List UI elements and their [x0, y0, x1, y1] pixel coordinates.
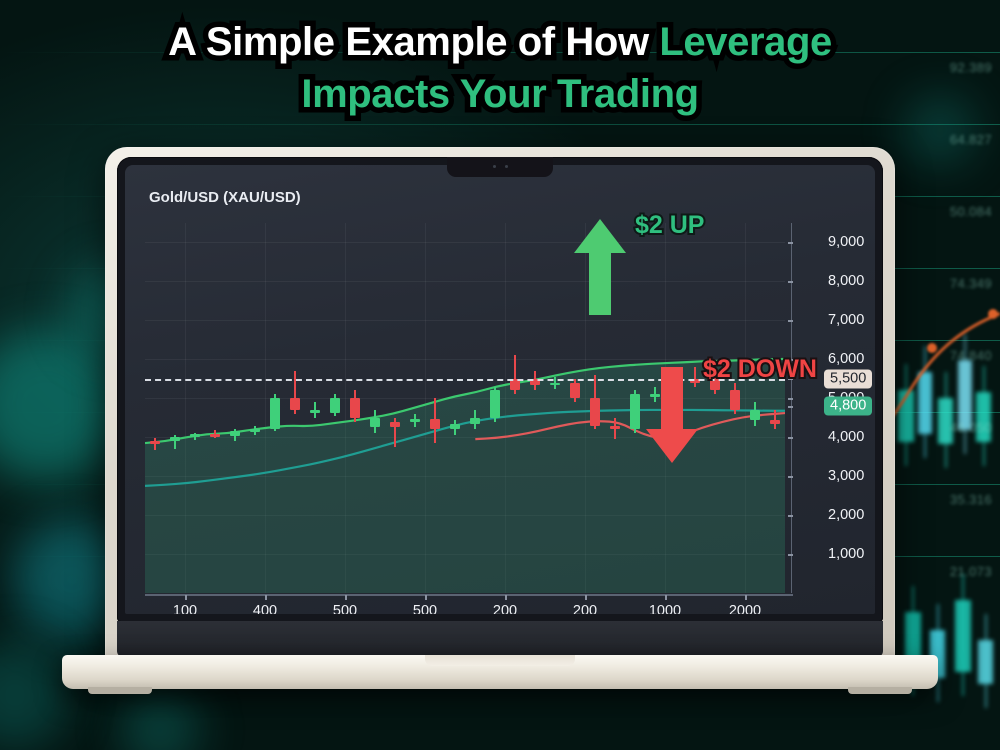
candlestick-body[interactable]: [310, 410, 320, 413]
x-axis-tick: [745, 595, 747, 600]
candlestick-body[interactable]: [590, 398, 600, 425]
laptop-mockup: Gold/USD (XAU/USD) 1,0002,0003,0004,0005…: [100, 147, 900, 677]
chart-plot-area[interactable]: [145, 223, 785, 593]
y-axis-label: 8,000: [828, 273, 864, 289]
x-axis-tick: [585, 595, 587, 600]
x-axis-tick: [345, 595, 347, 600]
x-axis-label: 2000: [729, 603, 761, 614]
y-axis-tick: [788, 554, 793, 556]
candlestick-body[interactable]: [610, 426, 620, 430]
y-axis-tick: [788, 476, 793, 478]
y-axis-tick: [788, 406, 793, 408]
laptop-lid: Gold/USD (XAU/USD) 1,0002,0003,0004,0005…: [105, 147, 895, 667]
y-axis-label: 3,000: [828, 468, 864, 484]
x-axis-label: 1000: [649, 603, 681, 614]
laptop-foot-left: [88, 687, 152, 694]
laptop-screen: Gold/USD (XAU/USD) 1,0002,0003,0004,0005…: [125, 165, 875, 614]
x-axis-ticks: 10040050050020020010002000: [145, 595, 791, 614]
x-axis-tick: [505, 595, 507, 600]
candlestick-body[interactable]: [190, 434, 200, 437]
laptop-chin: [117, 621, 883, 657]
y-axis: 1,0002,0003,0004,0005,0006,0007,0008,000…: [791, 223, 821, 593]
x-axis-tick: [185, 595, 187, 600]
candlestick-wick: [694, 367, 696, 386]
candlestick-body[interactable]: [630, 394, 640, 429]
candlestick-body[interactable]: [250, 429, 260, 432]
chart-title: Gold/USD (XAU/USD): [149, 189, 301, 206]
y-axis-tick: [788, 515, 793, 517]
background-price-label: 74.840: [950, 348, 992, 363]
candlestick-body[interactable]: [410, 419, 420, 422]
candlestick-body[interactable]: [350, 398, 360, 417]
background-price-label: 64.827: [950, 132, 992, 147]
y-axis-tick: [788, 320, 793, 322]
y-axis-tick: [788, 242, 793, 244]
background-price-label: 50.084: [950, 204, 992, 219]
x-axis-tick: [425, 595, 427, 600]
candlestick-body[interactable]: [550, 383, 560, 386]
x-axis-label: 400: [253, 603, 277, 614]
background-gridline: [0, 124, 1000, 125]
candlestick-body[interactable]: [390, 422, 400, 428]
x-axis-label: 500: [413, 603, 437, 614]
candlestick-body[interactable]: [290, 398, 300, 410]
laptop-bezel: Gold/USD (XAU/USD) 1,0002,0003,0004,0005…: [117, 157, 883, 622]
y-axis-label: 2,000: [828, 507, 864, 523]
background-price-label: 21.073: [950, 564, 992, 579]
y-axis-tick: [788, 359, 793, 361]
background-candle-body: [978, 640, 993, 684]
candlestick-body[interactable]: [430, 419, 440, 430]
y-axis-label: 7,000: [828, 312, 864, 328]
x-axis-label: 200: [493, 603, 517, 614]
sensor-dot-icon: [505, 165, 508, 168]
candlestick-body[interactable]: [450, 424, 460, 430]
laptop-base-notch: [425, 655, 575, 666]
laptop-foot-right: [848, 687, 912, 694]
camera-dot-icon: [493, 165, 496, 168]
y-axis-label: 9,000: [828, 234, 864, 250]
candlestick-body[interactable]: [150, 441, 160, 444]
candlestick-body[interactable]: [490, 390, 500, 417]
y-axis-tick: [788, 437, 793, 439]
current-price-badge[interactable]: 4,800: [824, 397, 872, 416]
y-axis-label: 1,000: [828, 546, 864, 562]
x-axis-label: 100: [173, 603, 197, 614]
x-axis-tick: [265, 595, 267, 600]
laptop-base: [62, 655, 938, 689]
candlestick-body[interactable]: [570, 383, 580, 399]
x-axis-tick: [665, 595, 667, 600]
background-price-label: 35.316: [950, 492, 992, 507]
candlestick-body[interactable]: [330, 398, 340, 413]
candlestick-body[interactable]: [230, 431, 240, 436]
background-price-label: 46.050: [950, 420, 992, 435]
y-axis-label: 6,000: [828, 351, 864, 367]
x-axis-label: 500: [333, 603, 357, 614]
reference-level-line: [145, 379, 785, 381]
candlestick-body[interactable]: [170, 437, 180, 441]
y-axis-tick: [788, 398, 793, 400]
candlestick-body[interactable]: [270, 398, 280, 429]
title-line-2: Impacts Your Trading: [0, 68, 1000, 120]
title-line-1-accent: Leverage: [659, 20, 831, 64]
candlestick-body[interactable]: [670, 383, 680, 397]
title-line-1-white: A Simple Example of How: [168, 20, 659, 64]
y-axis-tick: [788, 281, 793, 283]
candlestick-body[interactable]: [730, 390, 740, 409]
candlestick-body[interactable]: [650, 394, 660, 397]
candlestick-body[interactable]: [750, 410, 760, 420]
y-axis-label: 4,000: [828, 429, 864, 445]
candlestick-body[interactable]: [770, 420, 780, 424]
title-line-1: A Simple Example of How Leverage: [0, 16, 1000, 68]
y-axis-tick: [788, 379, 793, 381]
resistance-level-badge[interactable]: 5,500: [824, 369, 872, 388]
candlestick-body[interactable]: [370, 418, 380, 428]
background-candle-body: [955, 600, 971, 672]
x-axis-label: 200: [573, 603, 597, 614]
candlestick-body[interactable]: [210, 434, 220, 437]
page-title: A Simple Example of How Leverage Impacts…: [0, 16, 1000, 120]
camera-notch-icon: [447, 157, 553, 177]
background-price-label: 74.349: [950, 276, 992, 291]
candlestick-series: [145, 223, 785, 593]
candlestick-body[interactable]: [470, 418, 480, 424]
